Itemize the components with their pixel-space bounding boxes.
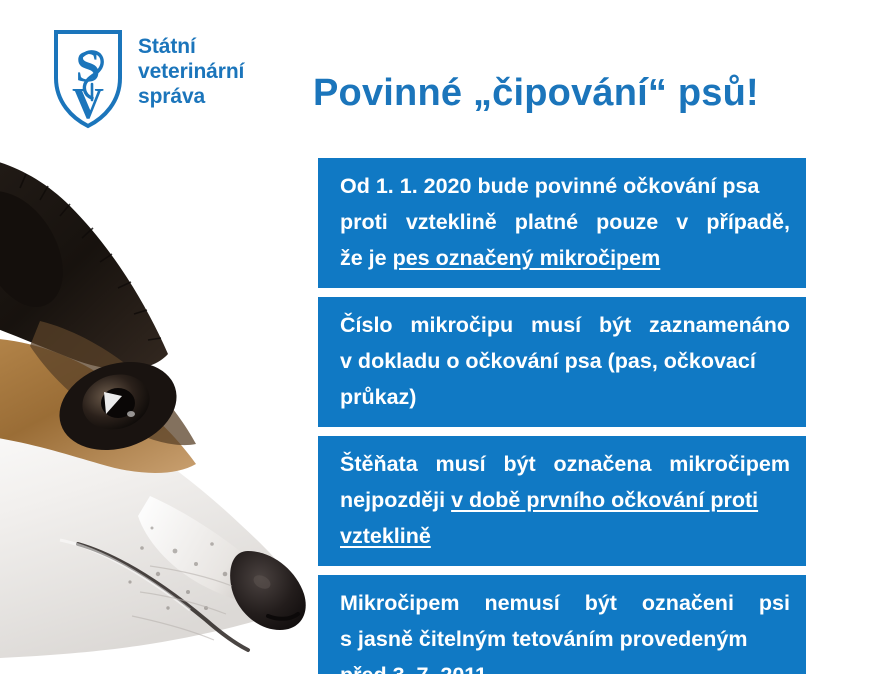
statement-text: průkaz): [340, 385, 416, 409]
poster-canvas: S V Státní veterinární správa Povinné „č…: [0, 0, 869, 674]
org-name-line-3: správa: [138, 84, 244, 109]
statement-word: Štěňata: [340, 446, 418, 482]
dog-head-photo: [0, 96, 320, 674]
statement-word: pouze: [596, 204, 658, 240]
statement-word: Mikročipem: [340, 585, 459, 621]
shield-with-snake-and-v-icon: S V: [52, 26, 124, 130]
statement-line: vzteklině: [340, 518, 790, 554]
page-title: Povinné „čipování“ psů!: [313, 72, 759, 115]
statement-emphasis: v době prvního očkování proti: [451, 488, 758, 512]
statement-word: psi: [759, 585, 790, 621]
statement-word: musí: [435, 446, 485, 482]
statement-emphasis: pes označený mikročipem: [393, 246, 661, 270]
shield-icon-svg: S V: [52, 26, 124, 130]
statement-microchip-required: Od 1. 1. 2020 bude povinné očkování psap…: [318, 158, 806, 288]
svg-text:V: V: [72, 79, 104, 128]
organization-logo: S V Státní veterinární správa: [52, 26, 244, 130]
statement-box-list: Od 1. 1. 2020 bude povinné očkování psap…: [318, 158, 806, 674]
statement-word: případě,: [706, 204, 790, 240]
statement-text: že je: [340, 246, 393, 270]
statement-line: průkaz): [340, 379, 790, 415]
statement-line: v dokladu o očkování psa (pas, očkovací: [340, 343, 790, 379]
statement-line: Štěňatamusíbýtoznačenamikročipem: [340, 446, 790, 482]
statement-line: že je pes označený mikročipem: [340, 240, 790, 276]
statement-line: Číslomikročipumusíbýtzaznamenáno: [340, 307, 790, 343]
statement-word: nemusí: [484, 585, 559, 621]
organization-name: Státní veterinární správa: [138, 26, 244, 109]
dog-eye-highlight: [127, 411, 135, 417]
statement-line: protivztekliněplatnépouzevpřípadě,: [340, 204, 790, 240]
statement-text: nejpozději: [340, 488, 451, 512]
statement-tattoo-exception: Mikročipemnemusíbýtoznačenipsis jasně či…: [318, 575, 806, 674]
statement-word: mikročipem: [669, 446, 790, 482]
statement-word: mikročipu: [410, 307, 513, 343]
statement-word: označeni: [642, 585, 734, 621]
org-name-line-1: Státní: [138, 34, 244, 59]
dog-illustration: [0, 96, 320, 674]
statement-word: být: [585, 585, 617, 621]
statement-emphasis: vzteklině: [340, 524, 431, 548]
statement-word: být: [503, 446, 535, 482]
statement-word: v: [676, 204, 688, 240]
statement-word: označena: [554, 446, 652, 482]
statement-puppies-deadline: Štěňatamusíbýtoznačenamikročipemnejpozdě…: [318, 436, 806, 566]
statement-line: před 3. 7. 2011: [340, 657, 790, 674]
statement-word: platné: [515, 204, 578, 240]
statement-line: Od 1. 1. 2020 bude povinné očkování psa: [340, 168, 790, 204]
statement-word: zaznamenáno: [649, 307, 790, 343]
statement-text: Od 1. 1. 2020 bude povinné očkování psa: [340, 174, 759, 198]
statement-text: v dokladu o očkování psa (pas, očkovací: [340, 349, 756, 373]
statement-word: být: [599, 307, 631, 343]
statement-word: Číslo: [340, 307, 393, 343]
statement-line: s jasně čitelným tetováním provedeným: [340, 621, 790, 657]
statement-text: s jasně čitelným tetováním provedeným: [340, 627, 747, 651]
statement-text: před 3. 7. 2011: [340, 663, 487, 674]
statement-line: nejpozději v době prvního očkování proti: [340, 482, 790, 518]
statement-word: vzteklině: [406, 204, 497, 240]
statement-chip-number-record: Číslomikročipumusíbýtzaznamenánov doklad…: [318, 297, 806, 427]
org-name-line-2: veterinární: [138, 59, 244, 84]
statement-line: Mikročipemnemusíbýtoznačenipsi: [340, 585, 790, 621]
statement-word: musí: [531, 307, 581, 343]
statement-word: proti: [340, 204, 388, 240]
